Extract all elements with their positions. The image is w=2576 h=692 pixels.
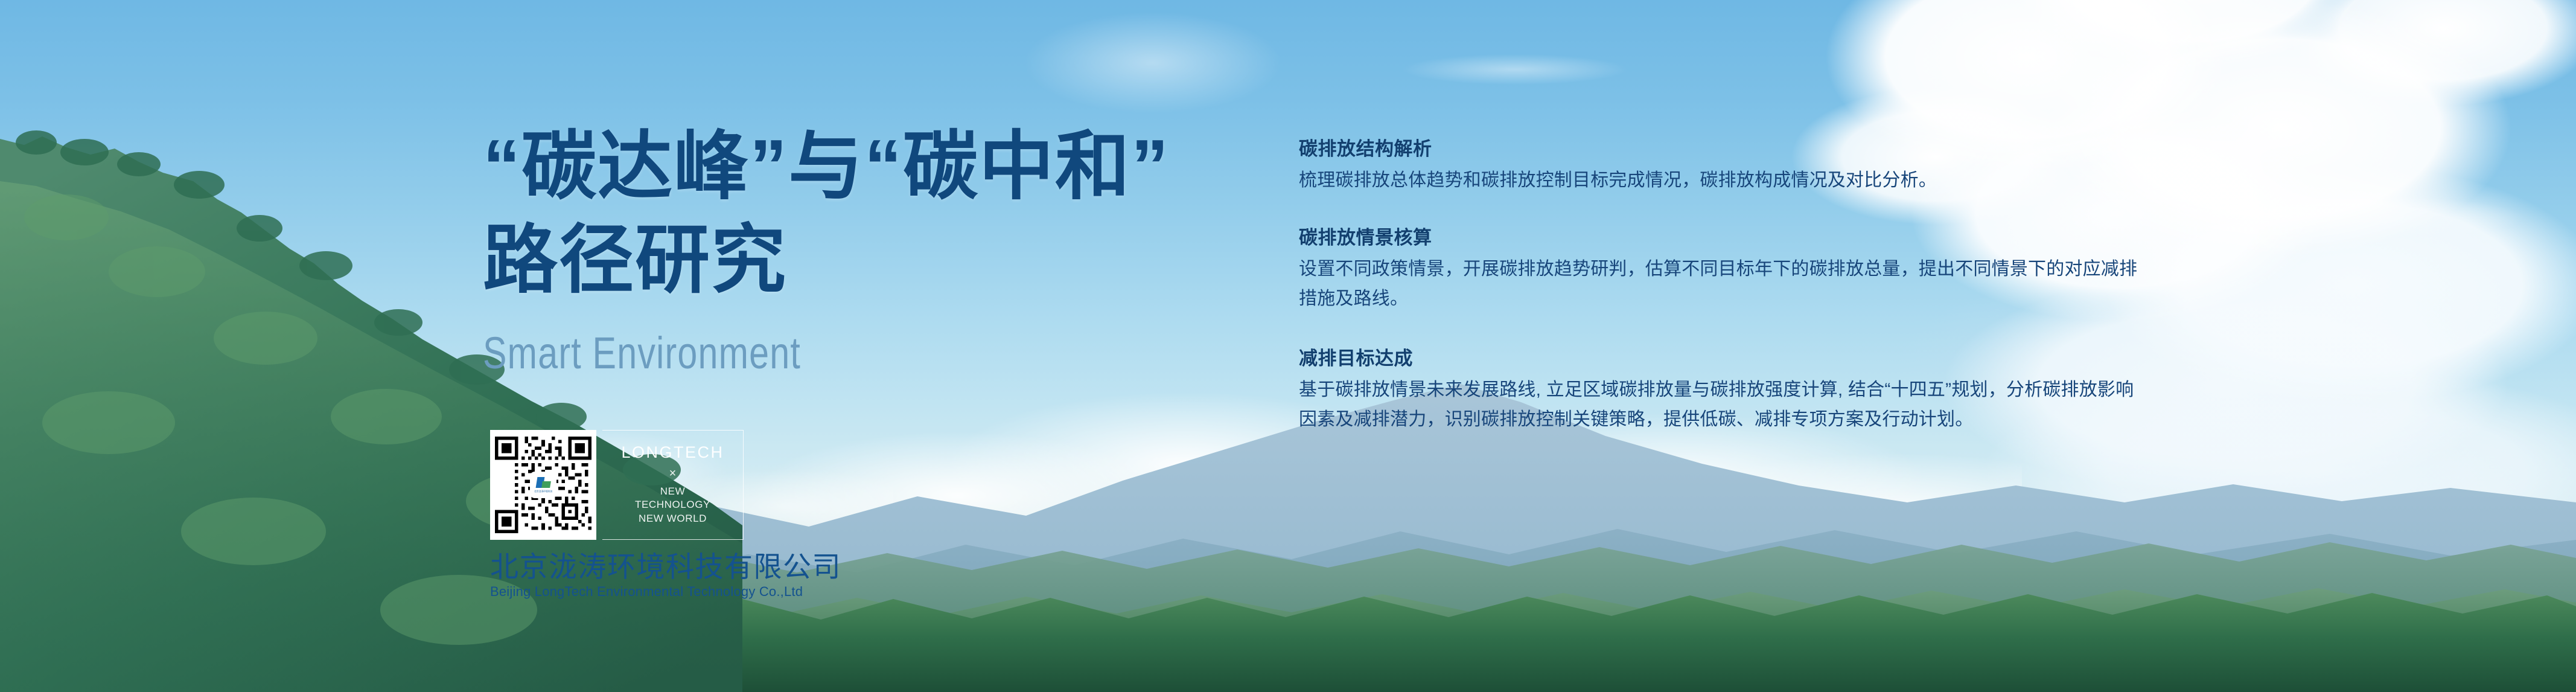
- brand-cross-icon: ×: [669, 467, 677, 479]
- feature-body-3: 基于碳排放情景未来发展路线, 立足区域碳排放量与碳排放强度计算, 结合“十四五”…: [1299, 376, 2144, 434]
- qr-logo-caption: 北京泷涛环境科技: [534, 490, 552, 493]
- badge-row: 北京泷涛环境科技 LONGTECH × NEW TECHNOLOGY NEW W…: [490, 430, 744, 540]
- feature-heading-2: 碳排放情景核算: [1299, 226, 2144, 250]
- page-title-line-2: 路径研究: [483, 212, 1207, 309]
- brand-tagline-line-3: NEW WORLD: [635, 512, 710, 525]
- longtech-brand-box: LONGTECH × NEW TECHNOLOGY NEW WORLD: [602, 430, 744, 540]
- feature-body-1: 梳理碳排放总体趋势和碳排放控制目标完成情况，碳排放构成情况及对比分析。: [1299, 166, 2144, 196]
- hero-text-block: “碳达峰”与“碳中和” 路径研究 Smart Environment: [483, 118, 1207, 379]
- feature-section-1: 碳排放结构解析 梳理碳排放总体趋势和碳排放控制目标完成情况，碳排放构成情况及对比…: [1299, 138, 2144, 195]
- feature-body-2: 设置不同政策情景，开展碳排放趋势研判，估算不同目标年下的碳排放总量，提出不同情景…: [1299, 255, 2144, 313]
- page-title-line-1: “碳达峰”与“碳中和”: [483, 118, 1207, 216]
- banner-root: “碳达峰”与“碳中和” 路径研究 Smart Environment: [0, 0, 2576, 692]
- page-subtitle: Smart Environment: [483, 327, 1062, 379]
- feature-heading-3: 减排目标达成: [1299, 347, 2144, 371]
- feature-section-2: 碳排放情景核算 设置不同政策情景，开展碳排放趋势研判，估算不同目标年下的碳排放总…: [1299, 226, 2144, 313]
- qr-center-logo: 北京泷涛环境科技: [531, 473, 555, 497]
- company-name-block: 北京泷涛环境科技有限公司 Beijing LongTech Environmen…: [490, 552, 744, 600]
- brand-tagline: NEW TECHNOLOGY NEW WORLD: [635, 485, 710, 525]
- feature-section-3: 减排目标达成 基于碳排放情景未来发展路线, 立足区域碳排放量与碳排放强度计算, …: [1299, 347, 2144, 434]
- company-name-en: Beijing LongTech Environmental Technolog…: [490, 584, 744, 600]
- brand-badge-block: 北京泷涛环境科技 LONGTECH × NEW TECHNOLOGY NEW W…: [490, 430, 744, 600]
- feature-heading-1: 碳排放结构解析: [1299, 138, 2144, 161]
- brand-tagline-line-1: NEW: [635, 485, 710, 498]
- logo-shape-green: [541, 481, 551, 488]
- brand-name: LONGTECH: [621, 444, 724, 461]
- company-name-cn: 北京泷涛环境科技有限公司: [490, 552, 744, 582]
- feature-sections: 碳排放结构解析 梳理碳排放总体趋势和碳排放控制目标完成情况，碳排放构成情况及对比…: [1299, 138, 2144, 434]
- longtech-logo-mark: [535, 477, 551, 489]
- qr-code-card[interactable]: 北京泷涛环境科技: [490, 430, 596, 540]
- brand-tagline-line-2: TECHNOLOGY: [635, 498, 710, 511]
- qr-code-icon[interactable]: 北京泷涛环境科技: [495, 437, 591, 533]
